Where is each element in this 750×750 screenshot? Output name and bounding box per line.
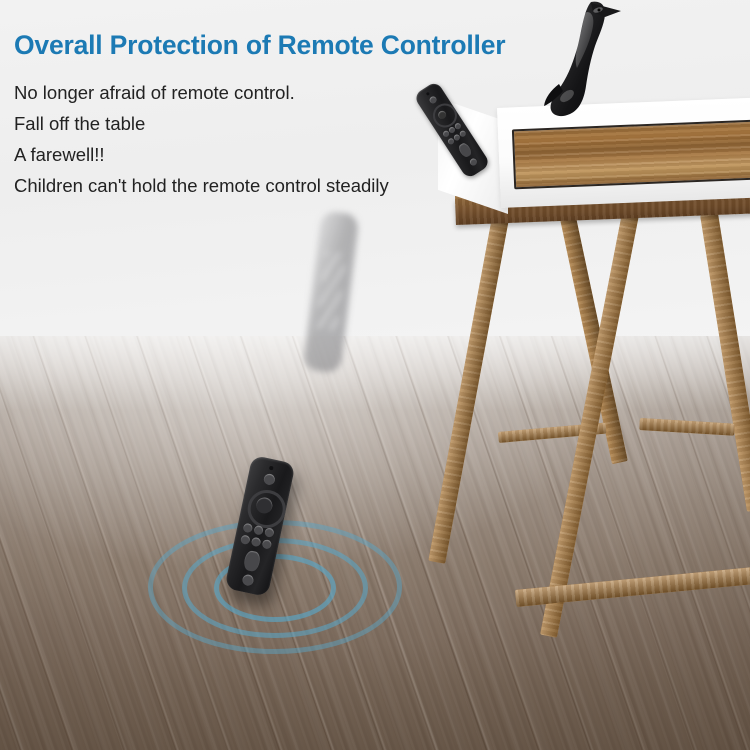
body-line: No longer afraid of remote control. xyxy=(14,77,534,108)
body-line: Children can't hold the remote control s… xyxy=(14,170,534,201)
body-text-block: No longer afraid of remote control. Fall… xyxy=(14,77,534,201)
page-title: Overall Protection of Remote Controller xyxy=(14,30,505,61)
wood-front-panel xyxy=(512,119,750,189)
body-line: A farewell!! xyxy=(14,139,534,170)
motion-blur-streaks xyxy=(316,251,345,331)
product-marketing-image: Overall Protection of Remote Controller … xyxy=(0,0,750,750)
black-penguin-figurine xyxy=(543,0,639,120)
body-line: Fall off the table xyxy=(14,108,534,139)
